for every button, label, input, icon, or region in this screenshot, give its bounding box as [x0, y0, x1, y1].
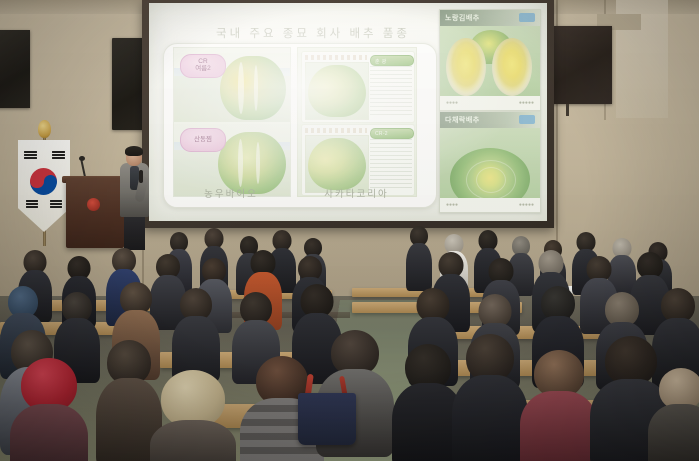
slide-title: 국내 주요 종묘 회사 배추 품종 — [183, 25, 443, 41]
cabbage-half — [446, 38, 486, 96]
packet-footer: ●●●●●●●●● — [440, 96, 540, 110]
packet-footer: ●●●●●●●●● — [440, 198, 540, 212]
cabbage-photo — [305, 135, 369, 193]
slide-content: 국내 주요 종묘 회사 배추 품종 CR여름2 — [149, 3, 547, 221]
projection-screen: 국내 주요 종묘 회사 배추 품종 CR여름2 — [149, 3, 547, 221]
speaker-panel-left — [0, 30, 30, 108]
entry-headline — [305, 55, 367, 60]
attendee-cream-hat — [150, 370, 236, 461]
catalog-column-center: 춘 광 CR-2 — [297, 47, 417, 197]
attendee — [648, 368, 699, 461]
lecture-hall-photo: 국내 주요 종묘 회사 배추 품종 CR여름2 — [0, 0, 699, 461]
attendee — [520, 350, 598, 461]
attendee — [172, 288, 220, 380]
variety-badge: CR여름2 — [180, 54, 226, 78]
cabbage-photo — [305, 62, 369, 120]
seed-packet-top: 노랑김배추 ●●●●●●●●● — [439, 9, 541, 111]
packet-header-label: 노랑김배추 — [445, 13, 480, 23]
presenter-legs — [124, 214, 145, 250]
packet-header: 노랑김배추 — [440, 10, 540, 26]
variety-badge: 산동찜 — [180, 128, 226, 152]
entry-headline — [305, 128, 367, 133]
cabbage-illustration — [218, 132, 286, 194]
entry-text-block — [370, 66, 412, 116]
lectern-emblem — [87, 198, 100, 211]
packet-header-label: 다채락배추 — [445, 115, 480, 125]
packet-tag — [519, 115, 535, 124]
handheld-microphone — [139, 170, 143, 183]
column-caption-left: 농우바이오 — [181, 186, 281, 200]
seed-packet-bottom: 다채락배추 ●●●●●●●●● — [439, 111, 541, 213]
attendee — [406, 226, 432, 290]
column-caption-center: 사카타코리아 — [299, 186, 414, 200]
variety-pill: 춘 광 — [370, 55, 414, 66]
packet-artwork — [440, 128, 540, 198]
lectern — [66, 178, 124, 248]
flag-finial — [38, 120, 51, 138]
taeguk-symbol — [30, 168, 57, 195]
entry-text-block — [370, 139, 412, 189]
attendee — [452, 334, 528, 460]
variety-entry: CR여름2 — [174, 50, 290, 122]
packet-tag — [519, 13, 535, 22]
cabbage-half — [492, 38, 532, 96]
gooseneck-microphone-head — [79, 156, 85, 161]
catalog-column-left: CR여름2 산동찜 — [173, 47, 291, 197]
packet-header: 다채락배추 — [440, 112, 540, 128]
variety-pill: CR-2 — [370, 128, 414, 139]
presenter-hair — [125, 146, 143, 156]
display-panel-stem — [566, 104, 569, 116]
packet-artwork — [440, 26, 540, 96]
catalog-entry: 춘 광 — [301, 51, 415, 123]
attendee-red-hat — [10, 358, 88, 461]
navy-handbag — [298, 393, 356, 445]
cabbage-illustration — [220, 56, 286, 120]
